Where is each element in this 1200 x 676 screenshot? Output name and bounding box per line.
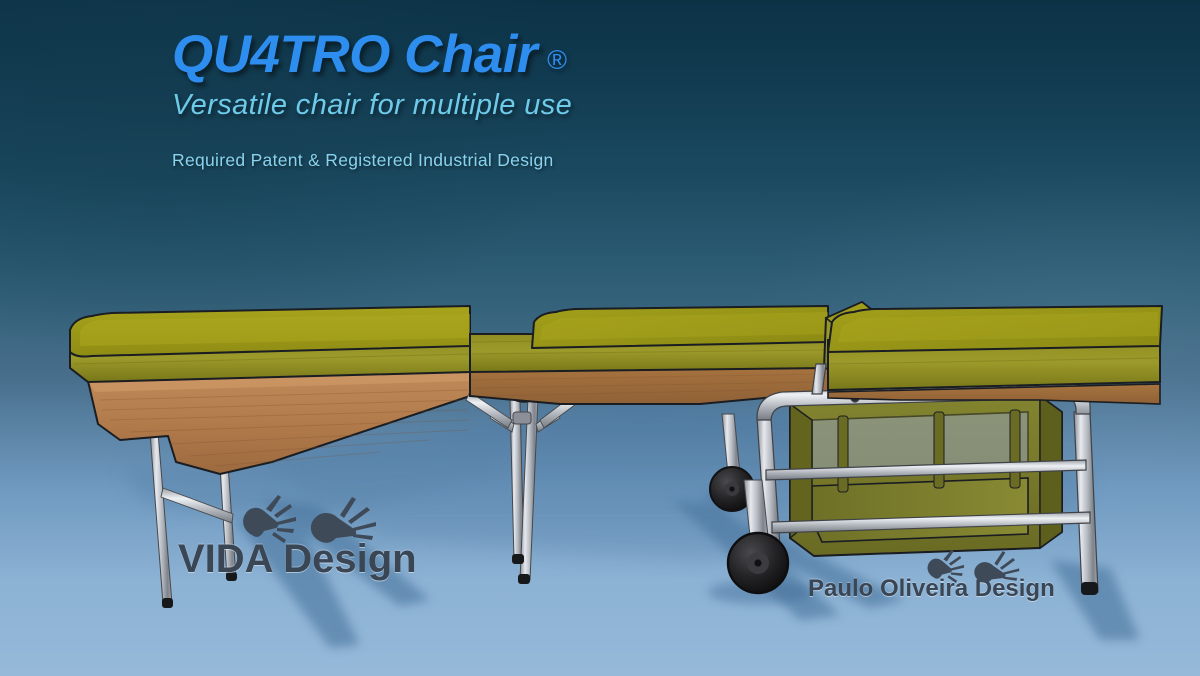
- background-glow-right: [730, 140, 1200, 540]
- seat-wood-panel: [470, 366, 828, 404]
- legrest-wood-panel: [828, 384, 1160, 404]
- legrest-cushion-top: [828, 306, 1162, 352]
- seat-cushion-top: [532, 306, 828, 348]
- patent-notice: Required Patent & Registered Industrial …: [172, 150, 952, 171]
- page-subtitle: Versatile chair for multiple use: [172, 89, 952, 122]
- presentation-slide: QU4TRO Chair ® Versatile chair for multi…: [0, 0, 1200, 676]
- basket-straps: [838, 410, 1020, 492]
- seat-cushion-side: [470, 330, 828, 372]
- vida-design-logo: VIDA Design: [178, 537, 417, 582]
- hinge-flap: [824, 302, 880, 372]
- seat-section-legs: [466, 382, 584, 584]
- title-block: QU4TRO Chair ® Versatile chair for multi…: [172, 28, 952, 171]
- rear-caster-wheel: [710, 414, 754, 511]
- section-seat: [466, 306, 828, 584]
- head-cushion-side: [70, 334, 470, 382]
- flap-wood: [836, 340, 880, 370]
- paulo-oliveira-design-logo: Paulo Oliveira Design: [808, 575, 1055, 603]
- front-caster-wheel: [728, 480, 788, 593]
- head-cushion-top: [70, 306, 470, 357]
- legrest-cushion-side: [828, 334, 1160, 390]
- hand-bird-marks-icon: [224, 491, 394, 554]
- storage-basket: [790, 396, 1062, 556]
- hinge-knuckle: [508, 382, 540, 402]
- flap-side: [824, 302, 880, 372]
- hand-bird-marks-icon: [913, 547, 1033, 592]
- wheel-shadow-front: [708, 580, 812, 604]
- registered-trademark-icon: ®: [547, 45, 567, 81]
- wheel-shadow-rear: [703, 490, 767, 506]
- head-wood-panel: [88, 371, 470, 474]
- page-title: QU4TRO Chair: [172, 28, 537, 81]
- title-line: QU4TRO Chair ®: [172, 28, 952, 81]
